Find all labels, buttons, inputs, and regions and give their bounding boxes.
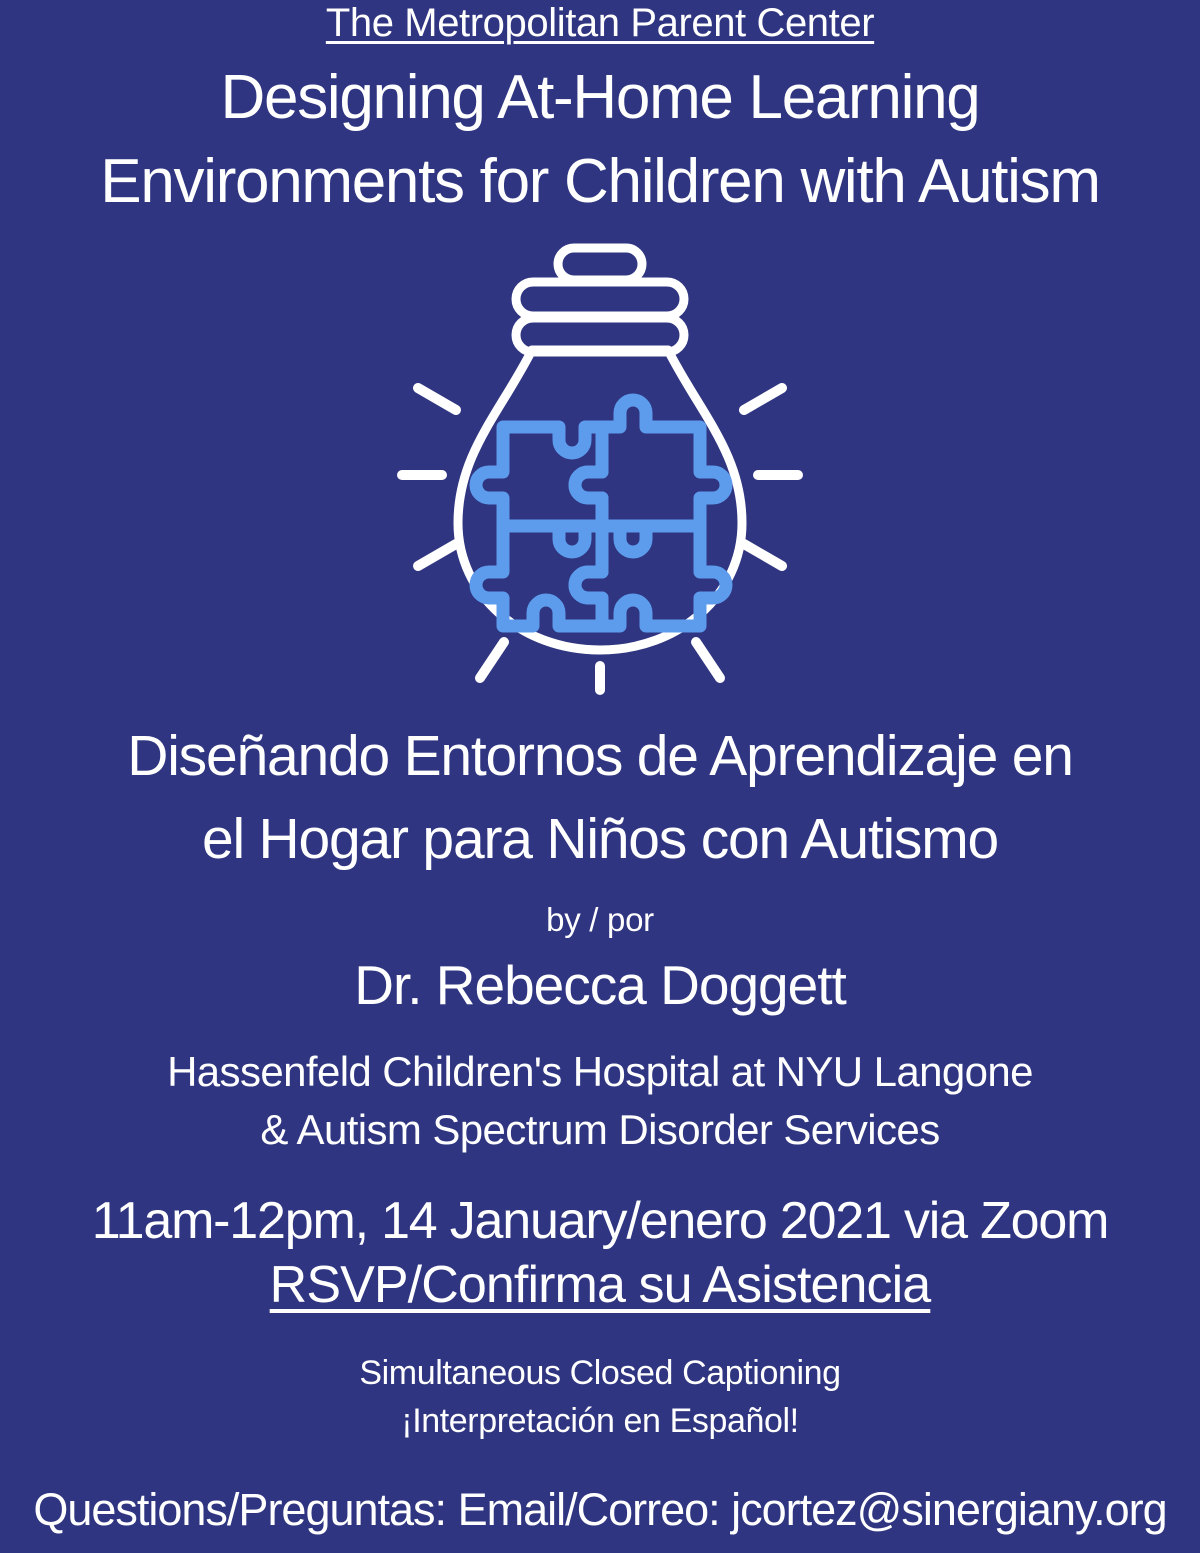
lightbulb-puzzle-illustration — [360, 233, 840, 703]
organization-name: The Metropolitan Parent Center — [326, 2, 874, 44]
page-title-spanish-line2: el Hogar para Niños con Autismo — [0, 798, 1200, 881]
page-title-spanish: Diseñando Entornos de Aprendizaje en el … — [0, 715, 1200, 880]
accessibility-notes: Simultaneous Closed Captioning ¡Interpre… — [0, 1349, 1200, 1446]
lightbulb-puzzle-icon — [380, 238, 820, 698]
speaker-affiliation: Hassenfeld Children's Hospital at NYU La… — [0, 1043, 1200, 1161]
speaker-affiliation-line1: Hassenfeld Children's Hospital at NYU La… — [0, 1043, 1200, 1102]
page-title-spanish-line1: Diseñando Entornos de Aprendizaje en — [0, 715, 1200, 798]
spanish-interpretation-note: ¡Interpretación en Español! — [0, 1397, 1200, 1445]
rsvp-link[interactable]: RSVP/Confirma su Asistencia — [270, 1256, 931, 1314]
contact-email-line: Questions/Preguntas: Email/Correo: jcort… — [33, 1485, 1166, 1535]
page-title-english: Designing At-Home Learning Environments … — [0, 56, 1200, 223]
closed-captioning-note: Simultaneous Closed Captioning — [0, 1349, 1200, 1397]
page-title-english-line2: Environments for Children with Autism — [0, 140, 1200, 224]
event-datetime: 11am-12pm, 14 January/enero 2021 via Zoo… — [0, 1192, 1200, 1250]
page-title-english-line1: Designing At-Home Learning — [0, 56, 1200, 140]
speaker-name: Dr. Rebecca Doggett — [354, 958, 846, 1013]
event-flyer: The Metropolitan Parent Center Designing… — [0, 0, 1200, 1553]
puzzle-pieces — [476, 378, 726, 626]
speaker-affiliation-line2: & Autism Spectrum Disorder Services — [0, 1101, 1200, 1160]
byline-label: by / por — [546, 903, 654, 936]
